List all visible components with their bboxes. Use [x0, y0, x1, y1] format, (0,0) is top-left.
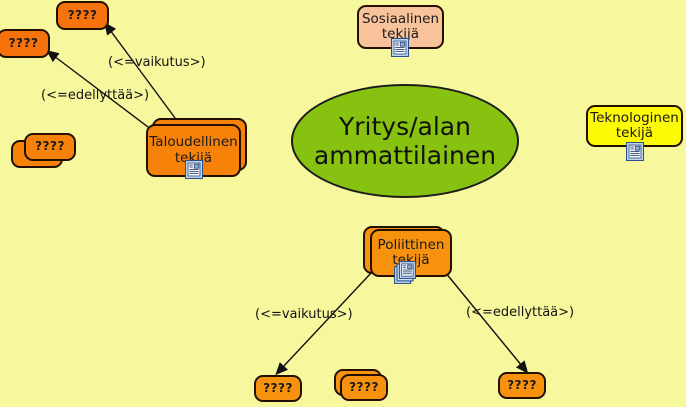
central-node-yritys-alan-ammattilainen[interactable]: Yritys/alan ammattilainen	[291, 84, 519, 198]
concept-node-top[interactable]: ????	[56, 1, 109, 30]
edge-label-vaikutus-bottom: (<=vaikutus>)	[255, 307, 353, 322]
central-node-line1: Yritys/alan	[314, 112, 496, 142]
documents-stack-icon[interactable]	[394, 261, 417, 284]
edge-label-vaikutus-top: (<=vaikutus>)	[108, 55, 206, 70]
edge-layer	[0, 0, 686, 407]
node-teknologinen-tekija[interactable]: Teknologinen tekijä	[586, 105, 683, 147]
edge-label-edellyttaa-bottom: (<=edellyttää>)	[466, 305, 574, 320]
node-poliittinen-line1: Poliittinen	[378, 238, 445, 253]
central-node-line2: ammattilainen	[314, 141, 496, 171]
concept-node-label: ????	[263, 382, 293, 395]
concept-node-left[interactable]: ????	[0, 29, 50, 58]
document-icon[interactable]	[391, 38, 409, 57]
concept-map-canvas: (<=vaikutus>) (<=edellyttää>) (<=vaikutu…	[0, 0, 686, 407]
node-teknologinen-line1: Teknologinen	[590, 111, 679, 126]
edge-label-edellyttaa-top: (<=edellyttää>)	[41, 88, 149, 103]
node-teknologinen-line2: tekijä	[590, 126, 679, 141]
concept-node-label: ????	[68, 9, 98, 22]
concept-node-label: ????	[507, 379, 537, 392]
concept-node-bottom-left[interactable]: ????	[254, 375, 302, 402]
edge-taloudellinen-vaikutus	[110, 30, 178, 122]
document-icon[interactable]	[185, 160, 203, 179]
concept-node-label: ????	[349, 381, 379, 394]
node-sosiaalinen-line1: Sosiaalinen	[362, 12, 439, 27]
document-icon[interactable]	[626, 142, 644, 161]
concept-node-leftstack[interactable]: ????	[24, 133, 76, 161]
node-taloudellinen-line1: Taloudellinen	[149, 135, 237, 150]
concept-node-bottom-middle[interactable]: ????	[340, 374, 388, 401]
concept-node-label: ????	[35, 140, 65, 153]
concept-node-label: ????	[9, 37, 39, 50]
concept-node-bottom-right[interactable]: ????	[498, 372, 546, 399]
